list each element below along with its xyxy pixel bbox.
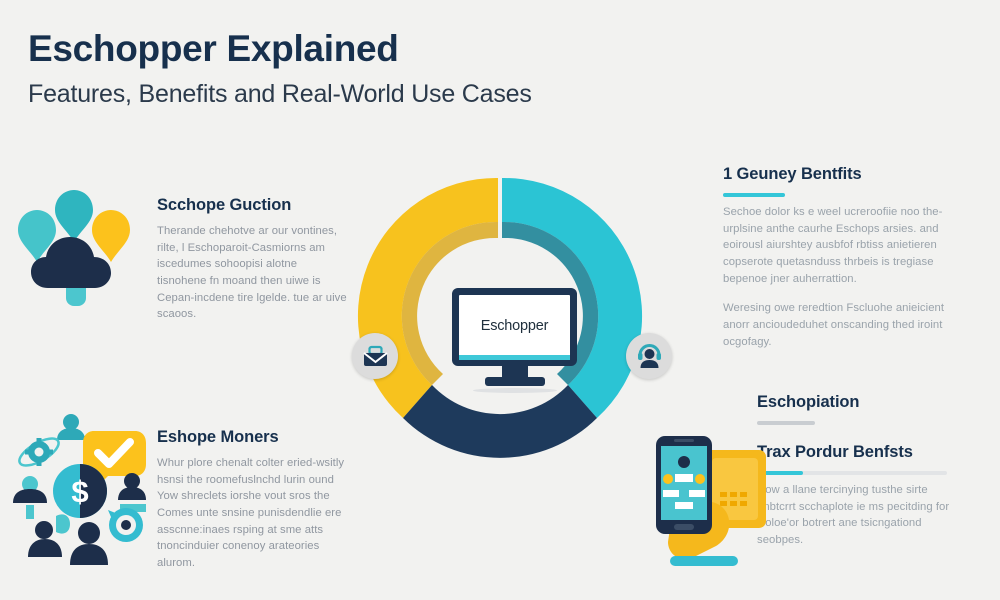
monitor-neck [502, 366, 528, 377]
user-icon [70, 522, 108, 565]
user-icon [57, 414, 85, 440]
block-heading: Eschopiation [757, 393, 962, 413]
target-icon [108, 508, 143, 542]
text-block-eschopiation: Eschopiation [757, 393, 962, 425]
block-body: Now a llane tercinying tusthe sirte anbt… [757, 482, 962, 549]
map-pin-icon [92, 210, 130, 262]
block-heading: Scchope Guction [157, 196, 347, 216]
svg-text:$: $ [71, 474, 88, 509]
heading-divider-rule [757, 421, 815, 425]
map-pin-icon [55, 190, 93, 242]
user-icon [13, 476, 47, 519]
block-body: Sechoe dolor ks e weel ucreroofiie noo t… [723, 204, 958, 288]
heading-accent-rule [723, 193, 785, 197]
poster-header: Eschopper Explained Features, Benefits a… [28, 28, 728, 109]
cloud-pins-illustration [14, 188, 139, 308]
page-subtitle: Features, Benefits and Real-World Use Ca… [28, 80, 728, 109]
monitor-label: Eschopper [481, 318, 549, 334]
monitor-screen: Eschopper [459, 295, 570, 360]
mail-badge[interactable] [352, 333, 398, 379]
user-badge[interactable] [626, 333, 672, 379]
monitor-accent-bar [459, 355, 570, 360]
mobile-hand-illustration [648, 432, 778, 580]
page-title: Eschopper Explained [28, 28, 728, 69]
block-body-secondary: Weresing owe reredtion Fscluohe anieicie… [723, 300, 958, 350]
heading-progress-rule [757, 471, 947, 475]
gear-icon [15, 433, 62, 471]
block-heading: Trax Pordur Benfsts [757, 443, 962, 463]
text-block-metrics: Eshope Moners Whur plore chenalt colter … [157, 428, 347, 572]
user-headset-icon [636, 343, 663, 370]
monitor-shadow [473, 388, 557, 393]
envelope-icon [362, 343, 389, 370]
text-block-benefits: 1 Geuney Bentfits Sechoe dolor ks e weel… [723, 165, 958, 351]
block-heading: Eshope Moners [157, 428, 347, 448]
smartphone-icon [656, 436, 712, 534]
rocket-icon [28, 514, 70, 557]
infographic-poster: Eschopper Explained Features, Benefits a… [0, 0, 1000, 600]
block-heading: 1 Geuney Bentfits [723, 165, 958, 185]
user-icon [118, 473, 146, 512]
growth-cluster-illustration: $ [8, 412, 158, 567]
monitor-bezel: Eschopper [452, 288, 577, 366]
dollar-circle-icon: $ [53, 464, 107, 518]
block-body: Therande chehotve ar our vontines, rilte… [157, 223, 347, 323]
navy-segment [403, 385, 597, 458]
block-body: Whur plore chenalt colter eried-wsitly h… [157, 455, 347, 572]
text-block-feature: Scchope Guction Therande chehotve ar our… [157, 196, 347, 323]
monitor-illustration: Eschopper [452, 288, 577, 388]
monitor-base [485, 377, 545, 386]
text-block-trax: Trax Pordur Benfsts Now a llane tercinyi… [757, 443, 962, 549]
